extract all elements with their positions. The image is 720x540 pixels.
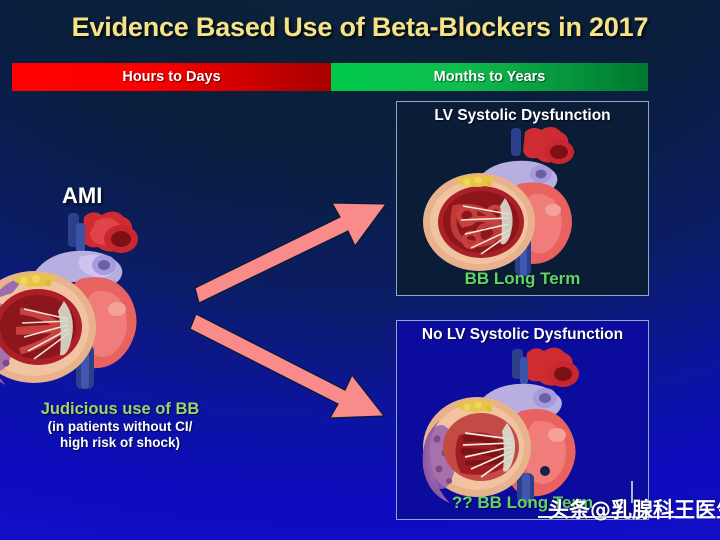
heart-cross-section-dilated-icon (421, 124, 626, 276)
outcome-box-lv-dysfunction: LV Systolic Dysfunction (396, 101, 649, 296)
outcome-box-title: LV Systolic Dysfunction (397, 107, 648, 125)
outcome-box-no-lv-dysfunction: No LV Systolic Dysfunction (396, 320, 649, 520)
outcome-box-footer: BB Long Term (397, 269, 648, 289)
arrow-to-lv-dysfunction (195, 203, 386, 303)
heart-cross-section-normal-icon (419, 343, 631, 503)
presentation-slide: Evidence Based Use of Beta-Blockers in 2… (0, 0, 720, 540)
arrow-to-no-lv-dysfunction (190, 314, 384, 418)
watermark-text: 头条@乳腺科王医生 (548, 494, 720, 524)
outcome-box-title: No LV Systolic Dysfunction (397, 326, 648, 344)
